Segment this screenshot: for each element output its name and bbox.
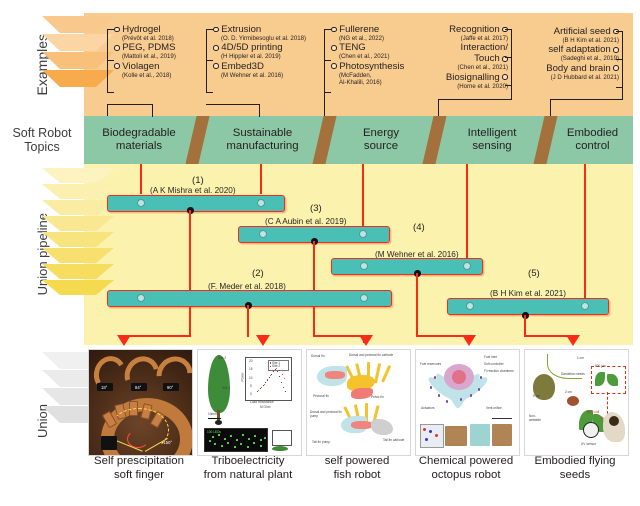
panel-image-octopus-robot: Fuel reservoirs Fuel inlet Soft controll… [416,350,519,455]
row-label-topics-line1: Soft Robot [12,126,71,140]
bracket-vertical [622,31,623,100]
bracket-tick [505,29,512,30]
union-panel-embodied-flying-seeds[interactable]: Dandelion seeds 1 cm 2 cm 5 cm 500 µm NF… [524,349,629,456]
bracket-tick [505,85,512,86]
topic-line2: source [363,140,399,153]
topic-line1: Intelligent [468,127,517,140]
pipeline-arrow-icon [256,335,270,346]
topic-cell-intelligent-sensing[interactable]: Intelligent sensing [442,116,542,164]
example-title: Artificial seed [554,26,611,37]
panel-annotation: 5 cm [533,394,540,398]
pipeline-bar-number: (5) [528,268,540,279]
example-item: Photosynthesis (McFadden, Al-Khalili, 20… [331,61,404,87]
bracket-base [550,99,623,100]
union-caption-line1: self powered [301,455,413,469]
panel-annotation: Fuel reservoirs [420,362,442,366]
pipeline-output-line [416,273,418,337]
topic-line1: Sustainable [226,127,298,140]
panel-annotation: Site 2 [218,356,226,360]
chevron-stack-examples-icon [42,16,78,88]
union-caption-line1: Triboelectricity [192,455,304,469]
topic-cell-energy-source[interactable]: Energy source [332,116,430,164]
pipeline-topic-dropline [362,164,364,231]
bracket-tick [324,29,331,30]
topic-line2: control [567,140,618,153]
panel-annotation: Pelvic fin [371,395,384,399]
example-item: Body and brain (J D Hubbard et al. 2021) [514,63,619,81]
topic-line2: materials [102,140,175,153]
example-item: TENG (Chen et al., 2021) [331,42,404,60]
pipeline-bar-endnode [359,230,367,238]
example-item: 4D/5D printing (H Hippler et al. 2019) [213,42,306,60]
panel-annotation: 1 cm [577,356,584,360]
union-caption-5: Embodied flying seeds [519,455,631,482]
pipeline-topic-dropline [260,164,262,194]
row-label-soft-robot-topics: Soft Robot Topics [0,116,84,164]
topic-line2: manufacturing [226,140,298,153]
bracket-vertical [511,29,512,100]
bracket-tick [616,59,623,60]
example-citation: (M Wehner et al. 2016) [213,72,306,79]
pipeline-bar-number: (3) [310,203,322,214]
example-title: Embed3D [221,61,264,72]
panel-image-fish-robot: Dorsal fin Dorsal and pectoral fin catho… [307,350,410,455]
example-citation: (Mattoli et al., 2019) [114,53,176,60]
bracket-tick [616,87,623,88]
pipeline-output-line [189,210,191,337]
pipeline-topic-dropline [140,164,142,194]
pipeline-bar-endnode [137,294,145,302]
node-dot-icon [502,74,508,80]
bracket-base [107,104,153,105]
example-item: Violagen (Kolle et al., 2018) [114,61,176,79]
pipeline-bar-number: (2) [252,268,264,279]
examples-group-embodied-control: Artificial seed (B H Kim et al. 2021) se… [514,26,619,81]
panel-annotation: 500 µm [595,364,606,368]
example-title: 4D/5D printing [221,42,282,53]
pipeline-bar-endnode [259,230,267,238]
example-citation: (Chen et al., 2021) [418,64,508,71]
panel-annotation: Soft controller [484,362,504,366]
power-vs-load-resistance-plot: 20 15 10 5 0 Site 1 Site 2 [245,357,292,401]
example-title: self adaptation [548,44,610,55]
node-dot-icon [613,47,619,53]
bracket-tick [324,60,331,61]
example-title: PEG, PDMS [122,42,175,53]
topic-line1: Energy [363,127,399,140]
bracket-connector [550,99,551,117]
bracket-tick [616,31,623,32]
example-citation: (Prévôt et al. 2018) [114,35,176,42]
example-item: Recognition (Jaffe et al. 2017) [418,24,508,42]
example-citation: (O. D. Yirmibesoglu et al. 2018) [213,35,306,42]
pipeline-bar-citation: (B H Kim et al. 2021) [490,289,566,298]
pipeline-bar-endnode [466,302,474,310]
pipeline-arrow-icon [359,335,373,346]
panel-annotation: 18° [101,385,107,390]
pipeline-bar-citation: (C A Aubin et al. 2019) [265,217,346,226]
bracket-tick [206,60,213,61]
node-dot-icon [213,27,219,33]
union-panel-chemical-powered-octopus-robot[interactable]: Fuel reservoirs Fuel inlet Soft controll… [415,349,520,456]
example-title: TENG [339,42,366,53]
union-caption-2: Triboelectricity from natural plant [192,455,304,482]
bracket-tick [324,92,331,93]
example-item: PEG, PDMS (Mattoli et al., 2019) [114,42,176,60]
topic-line2: sensing [468,140,517,153]
panel-annotation: Actuators [421,406,434,410]
pipeline-bar-number: (1) [192,175,204,186]
example-citation: (NG et al., 2022) [331,35,404,42]
panel-annotation: Dorsal and pectoral fin cathode [349,353,405,357]
panel-annotation: Tail fin pump [312,440,330,444]
pipeline-bar-4[interactable] [331,258,483,275]
example-citation: (Chen et al., 2021) [331,53,404,60]
node-dot-icon [613,65,619,71]
example-citation: (Jaffe et al. 2017) [418,35,508,42]
pipeline-bar-number: (4) [413,222,425,233]
bracket-base [206,104,260,105]
example-title: Hydrogel [122,24,160,35]
example-title: Violagen [122,61,159,72]
examples-group-energy-source: Fullerene (NG et al., 2022) TENG (Chen e… [331,24,404,87]
node-dot-icon [331,45,337,51]
union-caption-line2: seeds [519,469,631,483]
node-dot-icon [331,63,337,69]
example-title: Interaction/ [461,42,508,53]
example-citation: (McFadden, Al-Khalili, 2016) [331,72,404,87]
panel-image-triboelectricity: Site 2 Site 1 10mm 20 15 10 5 0 Site 1 S… [198,350,301,455]
panel-annotation: Tail fin cathode [383,438,407,442]
pipeline-output-line [313,241,315,337]
example-citation: (Kolle et al., 2018) [114,72,176,79]
examples-group-sustainable-manufacturing: Extrusion (O. D. Yirmibesoglu et al. 201… [213,24,306,79]
bracket-vertical [107,29,108,93]
union-caption-line1: Embodied flying [519,455,631,469]
node-dot-icon [114,45,120,51]
pipeline-output-line [313,335,365,337]
pipeline-bar-endnode [360,262,368,270]
bracket-vertical [206,29,207,93]
pipeline-arrow-icon [462,335,476,346]
chevron-stack-union-icon [42,352,78,424]
pipeline-arrow-icon [566,335,580,346]
example-title: Photosynthesis [339,61,404,72]
bracket-tick [107,92,114,93]
example-title: Recognition [449,24,500,35]
example-item: Hydrogel (Prévôt et al. 2018) [114,24,176,42]
row-label-topics-line2: Topics [12,140,71,154]
node-dot-icon [114,63,120,69]
union-caption-line2: fish robot [301,469,413,483]
panel-axis-unit: M Ohm [260,405,270,409]
node-dot-icon [331,27,337,33]
panel-annotation: 90° [167,385,173,390]
panel-annotation: UV sensor [581,442,596,446]
panel-annotation: 10mm [208,412,217,416]
example-citation: (B H Kim et al. 2021) [514,37,619,44]
union-panel-self-precipitation-soft-finger[interactable]: 18° 84° 90° ~150° [88,349,193,456]
union-caption-1: Self prescipitation soft finger [83,455,195,482]
union-caption-line1: Self prescipitation [83,455,195,469]
panel-annotation: Non-wettable [529,414,547,422]
panel-image-soft-finger: 18° 84° 90° ~150° [89,350,192,455]
node-dot-icon [213,45,219,51]
pipeline-bar-endnode [463,262,471,270]
pipeline-topic-dropline [466,164,468,260]
panel-annotation: ~150° [161,440,172,445]
example-title: Biosignalling [446,72,500,83]
union-caption-line1: Chemical powered [410,455,522,469]
pipeline-bar-endnode [257,199,265,207]
example-title: Extrusion [221,24,261,35]
example-item: Extrusion (O. D. Yirmibesoglu et al. 201… [213,24,306,42]
example-item: self adaptation (Sadeghi et al., 2019) [514,44,619,62]
example-title: Touch [474,53,500,64]
topic-cell-sustainable-manufacturing[interactable]: Sustainable manufacturing [205,116,320,164]
union-caption-line2: from natural plant [192,469,304,483]
panel-annotation: Dorsal and pectoral fin pump [310,410,344,418]
union-caption-line2: octopus robot [410,469,522,483]
pipeline-output-line [247,305,249,337]
node-dot-icon [213,63,219,69]
examples-group-intelligent-sensing: Recognition (Jaffe et al. 2017) Interact… [418,24,508,90]
panel-axis-label-y: Power [241,372,245,381]
bracket-connector [438,99,439,117]
bracket-tick [107,60,114,61]
example-item: Touch (Chen et al., 2021) [418,53,508,71]
topic-line1: Biodegradable [102,127,175,140]
figure-root: Examples Soft Robot Topics Union pipelin… [0,0,640,506]
example-citation: (H Hippler et al. 2019) [213,53,306,60]
panel-annotation: 84° [135,385,141,390]
example-item: Fullerene (NG et al., 2022) [331,24,404,42]
example-title: Fullerene [339,24,379,35]
panel-image-flying-seeds: Dandelion seeds 1 cm 2 cm 5 cm 500 µm NF… [525,350,628,455]
example-item: Biosignalling (Horne et al. 2020) [418,72,508,90]
panel-annotation: Dandelion seeds [561,372,585,376]
pipeline-bar-endnode [581,302,589,310]
example-citation: (J D Hubbard et al. 2021) [514,74,619,81]
pipeline-topic-dropline [584,164,586,299]
union-caption-3: self powered fish robot [301,455,413,482]
bracket-base [438,99,512,100]
panel-annotation: 2 cm [565,390,572,394]
example-citation: (Sadeghi et al., 2019) [514,55,619,62]
example-item: Interaction/ [418,42,508,53]
bracket-tick [505,57,512,58]
panel-annotation: NFC coil [587,410,599,414]
pipeline-arrow-icon [117,335,131,346]
pipeline-bar-citation: (A K Mishra et al. 2020) [150,186,236,195]
led-array-image: 100 LEDs [204,428,268,452]
bracket-tick [107,29,114,30]
pipeline-output-line [124,335,191,337]
chevron-stack-pipeline-icon [42,168,78,296]
panel-annotation: Dorsal fin [311,354,324,358]
bracket-drop [107,105,108,116]
example-item: Embed3D (M Wehner et al. 2016) [213,61,306,79]
bracket-tick [206,29,213,30]
union-caption-4: Chemical powered octopus robot [410,455,522,482]
examples-group-biodegradable-materials: Hydrogel (Prévôt et al. 2018) PEG, PDMS … [114,24,176,79]
example-item: Artificial seed (B H Kim et al. 2021) [514,26,619,44]
pipeline-output-line [524,315,526,337]
topic-cell-biodegradable-materials[interactable]: Biodegradable materials [84,116,194,164]
bracket-vertical [324,29,325,107]
panel-annotation: Fuel inlet [484,355,497,359]
pipeline-bar-endnode [137,199,145,207]
node-dot-icon [114,27,120,33]
union-caption-line2: soft finger [83,469,195,483]
panel-axis-label-x: Load Resistance [250,400,274,404]
panel-annotation: Vent orifice [486,406,502,410]
pipeline-bar-endnode [360,294,368,302]
topic-line1: Embodied [567,127,618,140]
panel-annotation: Site 1 [222,386,230,390]
panel-annotation: Fl reaction chambers [484,369,514,373]
panel-annotation: Pectoral fin [313,394,329,398]
union-panel-self-powered-fish-robot[interactable]: Dorsal fin Dorsal and pectoral fin catho… [306,349,411,456]
union-panel-triboelectricity-natural-plant[interactable]: Site 2 Site 1 10mm 20 15 10 5 0 Site 1 S… [197,349,302,456]
bracket-tick [206,92,213,93]
topic-cell-embodied-control[interactable]: Embodied control [552,116,633,164]
example-title: Body and brain [546,63,611,74]
example-citation: (Horne et al. 2020) [418,83,508,90]
